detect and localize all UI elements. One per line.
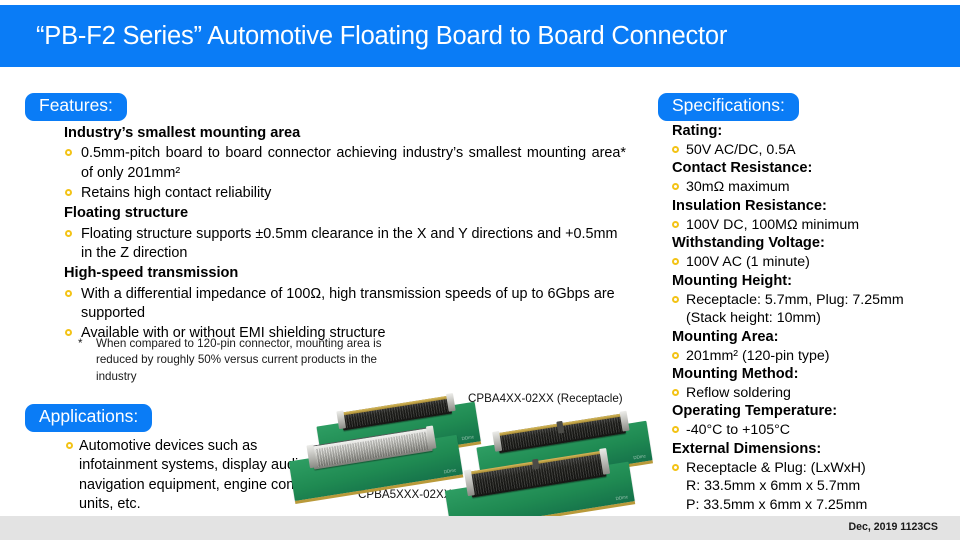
- features-section-badge: Features:: [25, 93, 127, 121]
- spec-extra-line: (Stack height: 10mm): [672, 309, 958, 327]
- image-watermark: DDmc: [633, 453, 646, 460]
- spec-label: Mounting Method:: [672, 365, 958, 384]
- footer-bar: Dec, 2019 1123CS: [0, 516, 960, 540]
- features-footnote: * When compared to 120-pin connector, mo…: [78, 336, 408, 385]
- image-watermark: DDmc: [461, 434, 474, 441]
- footnote-marker: *: [78, 336, 83, 352]
- spec-value-row: 50V AC/DC, 0.5A: [672, 141, 958, 159]
- spec-label: Operating Temperature:: [672, 402, 958, 421]
- applications-section-badge: Applications:: [25, 404, 152, 432]
- bullet-ring-icon: [672, 426, 679, 433]
- features-group-heading: Floating structure: [64, 204, 626, 223]
- bullet-ring-icon: [672, 389, 679, 396]
- spec-extra-line: R: 33.5mm x 6mm x 5.7mm: [672, 477, 958, 495]
- features-list-item: Floating structure supports ±0.5mm clear…: [64, 225, 626, 264]
- specifications-content: Rating: 50V AC/DC, 0.5A Contact Resistan…: [672, 122, 958, 533]
- features-list-item-text: Retains high contact reliability: [81, 185, 271, 201]
- spec-label: External Dimensions:: [672, 440, 958, 459]
- bullet-ring-icon: [672, 258, 679, 265]
- spec-label: Mounting Height:: [672, 272, 958, 291]
- bullet-ring-icon: [672, 296, 679, 303]
- bullet-ring-icon: [672, 221, 679, 228]
- specifications-section-badge: Specifications:: [658, 93, 799, 121]
- features-group-heading: High-speed transmission: [64, 264, 626, 283]
- spec-value-row: 100V AC (1 minute): [672, 253, 958, 271]
- spec-value-row: Receptacle & Plug: (LxWxH): [672, 459, 958, 477]
- spec-label: Rating:: [672, 122, 958, 141]
- image-watermark: DDmc: [615, 494, 628, 501]
- features-list-item: 0.5mm-pitch board to board connector ach…: [64, 144, 626, 183]
- features-content: Industry’s smallest mounting area 0.5mm-…: [64, 124, 626, 345]
- spec-value-row: Receptacle: 5.7mm, Plug: 7.25mm: [672, 291, 958, 309]
- spec-value-row: Reflow soldering: [672, 384, 958, 402]
- spec-label: Insulation Resistance:: [672, 197, 958, 216]
- spec-value: 50V AC/DC, 0.5A: [686, 142, 796, 158]
- spec-value: Receptacle: 5.7mm, Plug: 7.25mm: [686, 292, 904, 308]
- product-photo-group: CPBA4XX-02XX (Receptacle) CPBA5XXX-02XXF…: [300, 388, 660, 516]
- features-list-item: Retains high contact reliability: [64, 184, 626, 203]
- features-list-item-text: 0.5mm-pitch board to board connector ach…: [81, 144, 626, 183]
- bullet-ring-icon: [65, 230, 72, 237]
- spec-value-row: -40°C to +105°C: [672, 421, 958, 439]
- spec-value-row: 30mΩ maximum: [672, 178, 958, 196]
- title-banner: “PB-F2 Series” Automotive Floating Board…: [0, 5, 960, 67]
- bullet-ring-icon: [672, 464, 679, 471]
- bullet-ring-icon: [672, 352, 679, 359]
- spec-value: Receptacle & Plug: (LxWxH): [686, 460, 866, 476]
- features-group-heading: Industry’s smallest mounting area: [64, 124, 626, 143]
- features-list-item-text: With a differential impedance of 100Ω, h…: [81, 286, 615, 321]
- features-list-item: With a differential impedance of 100Ω, h…: [64, 285, 626, 324]
- spec-value: 100V DC, 100MΩ minimum: [686, 217, 859, 233]
- spec-value: Reflow soldering: [686, 385, 791, 401]
- bullet-ring-icon: [672, 146, 679, 153]
- spec-value-row: 201mm² (120-pin type): [672, 347, 958, 365]
- spec-value: -40°C to +105°C: [686, 422, 790, 438]
- bullet-ring-icon: [672, 183, 679, 190]
- spec-value-row: 100V DC, 100MΩ minimum: [672, 216, 958, 234]
- connector-end-cap: [446, 393, 456, 412]
- features-list-item-text: Floating structure supports ±0.5mm clear…: [81, 226, 618, 261]
- spec-label: Contact Resistance:: [672, 159, 958, 178]
- bullet-ring-icon: [65, 329, 72, 336]
- spec-label: Withstanding Voltage:: [672, 234, 958, 253]
- spec-extra-line: P: 33.5mm x 6mm x 7.25mm: [672, 496, 958, 514]
- page-title: “PB-F2 Series” Automotive Floating Board…: [0, 22, 727, 51]
- bullet-ring-icon: [66, 442, 73, 449]
- footnote-text: When compared to 120-pin connector, moun…: [78, 336, 408, 385]
- footer-date-code: Dec, 2019 1123CS: [848, 521, 938, 533]
- bullet-ring-icon: [65, 189, 72, 196]
- bullet-ring-icon: [65, 290, 72, 297]
- spec-value: 201mm² (120-pin type): [686, 348, 830, 364]
- spec-label: Mounting Area:: [672, 328, 958, 347]
- bullet-ring-icon: [65, 149, 72, 156]
- spec-value: 30mΩ maximum: [686, 179, 790, 195]
- product-caption-receptacle: CPBA4XX-02XX (Receptacle): [468, 392, 623, 405]
- spec-value: 100V AC (1 minute): [686, 254, 810, 270]
